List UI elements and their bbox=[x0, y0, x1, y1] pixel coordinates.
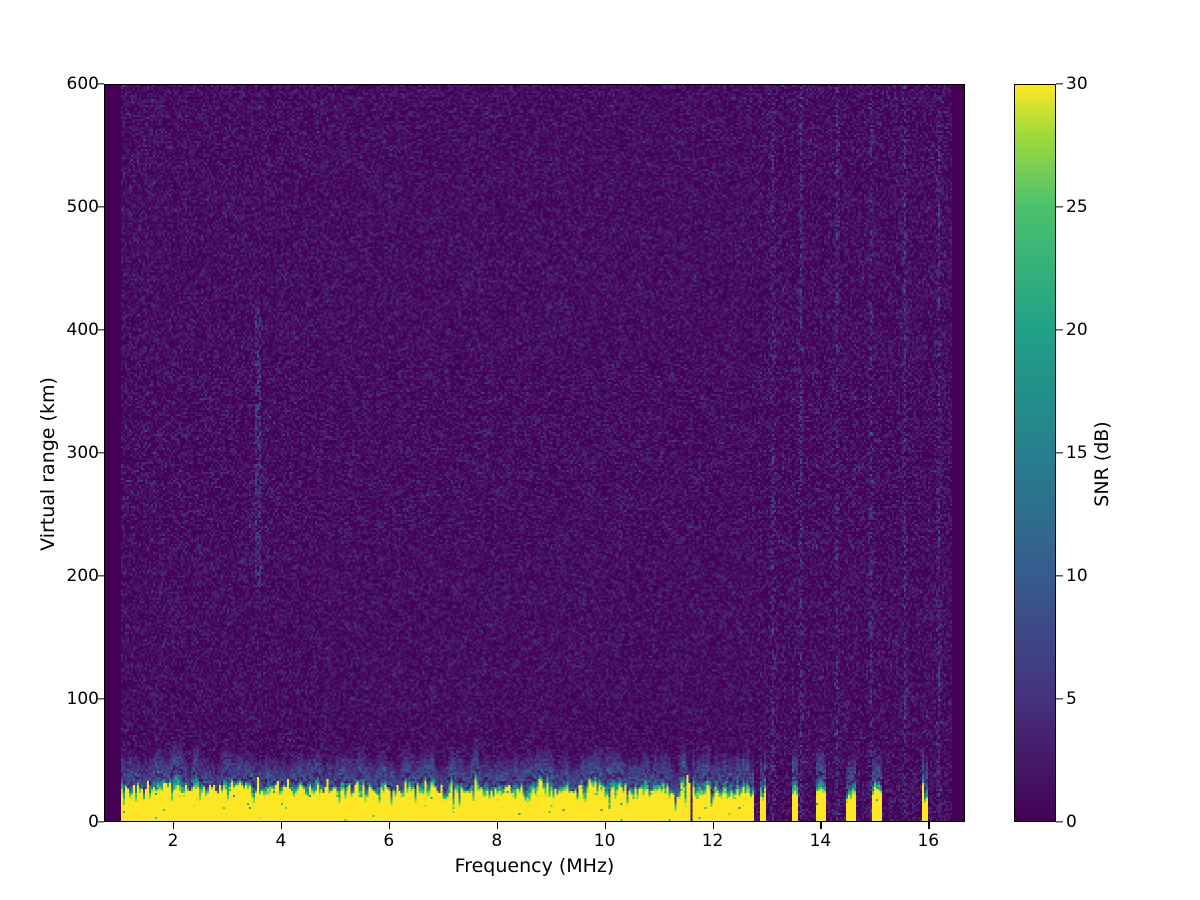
x-tick-mark-6 bbox=[389, 822, 390, 829]
x-tick-label-2: 2 bbox=[133, 831, 213, 851]
colorbar-label: SNR (dB) bbox=[1091, 264, 1113, 664]
colorbar-tick-label-15: 15 bbox=[1066, 443, 1088, 463]
colorbar-tick-mark-10 bbox=[1056, 575, 1063, 576]
x-tick-label-10: 10 bbox=[565, 831, 645, 851]
y-tick-mark-500 bbox=[98, 206, 105, 207]
colorbar-tick-label-20: 20 bbox=[1066, 320, 1088, 340]
colorbar-tick-mark-15 bbox=[1056, 452, 1063, 453]
x-tick-mark-8 bbox=[497, 822, 498, 829]
colorbar-tick-mark-0 bbox=[1056, 821, 1063, 822]
x-tick-mark-10 bbox=[605, 822, 606, 829]
x-tick-mark-4 bbox=[281, 822, 282, 829]
colorbar-tick-label-10: 10 bbox=[1066, 566, 1088, 586]
x-axis-label: Frequency (MHz) bbox=[104, 855, 965, 877]
y-tick-mark-600 bbox=[98, 83, 105, 84]
y-tick-mark-200 bbox=[98, 575, 105, 576]
y-tick-mark-0 bbox=[98, 821, 105, 822]
colorbar-tick-mark-5 bbox=[1056, 698, 1063, 699]
x-tick-mark-12 bbox=[713, 822, 714, 829]
y-axis-label: Virtual range (km) bbox=[37, 184, 59, 744]
ionogram-heatmap bbox=[105, 85, 964, 821]
ionogram-figure: IRF Kiruna Ionosonde KI167 2026-04-21 22… bbox=[0, 0, 1200, 900]
y-tick-mark-400 bbox=[98, 329, 105, 330]
x-tick-label-16: 16 bbox=[888, 831, 968, 851]
colorbar-tick-mark-25 bbox=[1056, 206, 1063, 207]
colorbar-gradient bbox=[1015, 85, 1055, 821]
colorbar-tick-label-30: 30 bbox=[1066, 74, 1088, 94]
y-tick-mark-300 bbox=[98, 452, 105, 453]
colorbar-tick-mark-20 bbox=[1056, 329, 1063, 330]
colorbar[interactable] bbox=[1014, 84, 1056, 822]
y-tick-label-600: 600 bbox=[0, 74, 99, 94]
x-tick-label-12: 12 bbox=[673, 831, 753, 851]
y-tick-mark-100 bbox=[98, 698, 105, 699]
x-tick-label-14: 14 bbox=[780, 831, 860, 851]
x-tick-mark-2 bbox=[173, 822, 174, 829]
colorbar-tick-mark-30 bbox=[1056, 83, 1063, 84]
colorbar-tick-label-0: 0 bbox=[1066, 812, 1077, 832]
ionogram-plot-area[interactable] bbox=[104, 84, 965, 822]
colorbar-tick-label-5: 5 bbox=[1066, 689, 1077, 709]
x-tick-label-8: 8 bbox=[457, 831, 537, 851]
colorbar-tick-label-25: 25 bbox=[1066, 197, 1088, 217]
x-tick-mark-14 bbox=[820, 822, 821, 829]
y-tick-label-0: 0 bbox=[0, 812, 99, 832]
x-tick-mark-16 bbox=[928, 822, 929, 829]
x-tick-label-6: 6 bbox=[349, 831, 429, 851]
x-tick-label-4: 4 bbox=[241, 831, 321, 851]
